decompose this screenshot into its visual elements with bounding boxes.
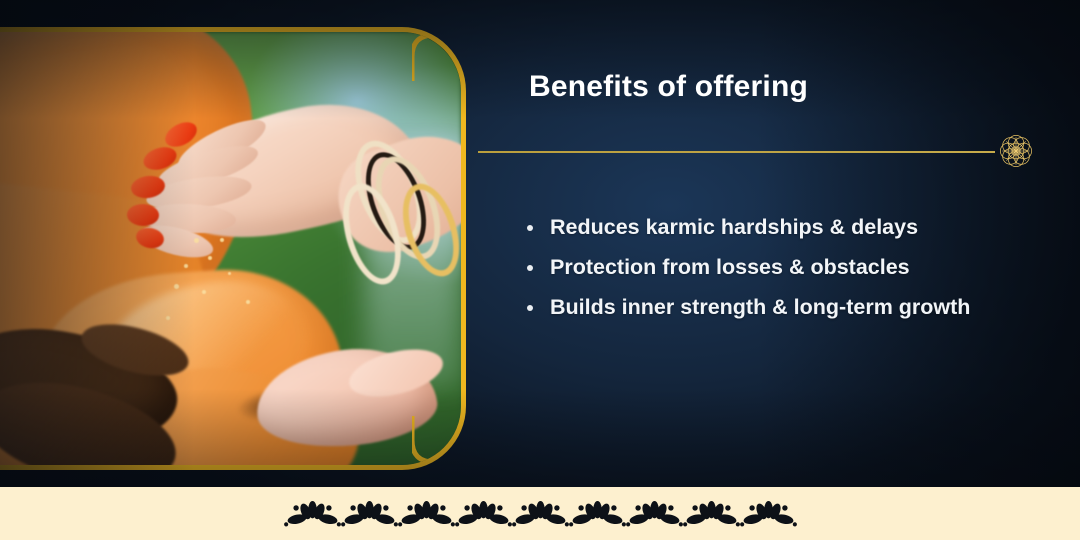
floral-fleuron-icon bbox=[569, 499, 626, 529]
slide-root: Benefits of offering Reduces karmic hard… bbox=[0, 0, 1080, 540]
falling-grain bbox=[246, 300, 250, 304]
falling-grain bbox=[202, 290, 206, 294]
mandala-rosette-icon bbox=[993, 128, 1039, 174]
benefits-list: Reduces karmic hardships & delays Protec… bbox=[519, 207, 1019, 327]
list-item: Builds inner strength & long-term growth bbox=[519, 287, 1019, 327]
floral-fleuron-icon bbox=[626, 499, 683, 529]
floral-fleuron-icon bbox=[683, 499, 740, 529]
photo-scene bbox=[0, 32, 461, 465]
falling-grain bbox=[220, 238, 224, 242]
falling-grain bbox=[228, 272, 231, 275]
falling-grain bbox=[166, 316, 170, 320]
floral-fleuron-icon bbox=[341, 499, 398, 529]
floral-fleuron-icon bbox=[740, 499, 797, 529]
floral-fleuron-icon bbox=[284, 499, 341, 529]
gold-divider-line bbox=[478, 151, 995, 153]
ornament-row bbox=[0, 487, 1080, 540]
photo-clip bbox=[0, 32, 461, 465]
falling-grain bbox=[174, 284, 179, 289]
list-item: Protection from losses & obstacles bbox=[519, 247, 1019, 287]
floral-fleuron-icon bbox=[512, 499, 569, 529]
falling-grain bbox=[194, 238, 199, 243]
offering-hands-photo bbox=[0, 27, 466, 470]
falling-grain bbox=[184, 264, 188, 268]
floral-fleuron-icon bbox=[455, 499, 512, 529]
bottom-ornament-band bbox=[0, 487, 1080, 540]
falling-grain bbox=[208, 256, 212, 260]
page-title: Benefits of offering bbox=[529, 70, 808, 104]
floral-fleuron-icon bbox=[398, 499, 455, 529]
list-item: Reduces karmic hardships & delays bbox=[519, 207, 1019, 247]
